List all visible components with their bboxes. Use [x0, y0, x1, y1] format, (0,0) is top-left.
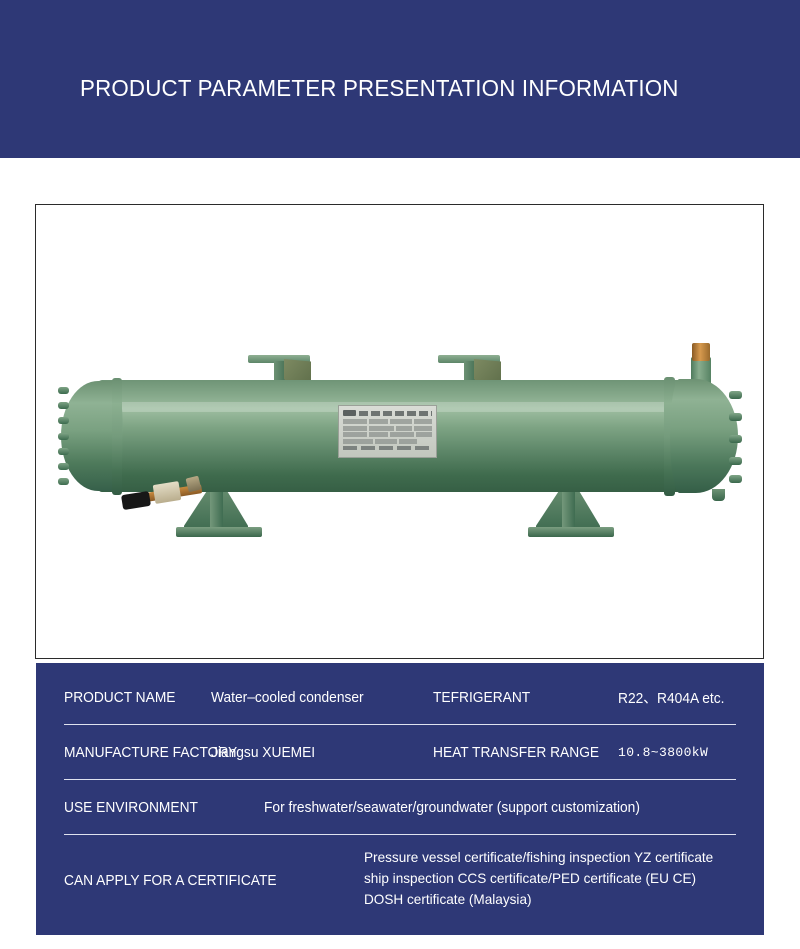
spec-value-product-name: Water–cooled condenser: [211, 690, 422, 706]
nameplate-row: [343, 439, 432, 444]
table-row: MANUFACTURE FACTORY Jiangsu XUEMEI HEAT …: [36, 725, 764, 780]
bolt: [58, 387, 69, 394]
nameplate-row: [343, 419, 432, 424]
bolt: [58, 402, 69, 409]
nameplate-cell: [343, 419, 367, 424]
nameplate-header: [343, 409, 432, 417]
page-header: PRODUCT PARAMETER PRESENTATION INFORMATI…: [0, 0, 800, 158]
spec-value-use-environment: For freshwater/seawater/groundwater (sup…: [264, 800, 640, 816]
certificate-line-1: Pressure vessel certificate/fishing insp…: [364, 847, 713, 868]
nameplate-cell: [343, 439, 373, 444]
spec-label-refrigerant: TEFRIGERANT: [433, 690, 609, 706]
spec-label-use-environment: USE ENVIRONMENT: [64, 800, 254, 816]
page-title: PRODUCT PARAMETER PRESENTATION INFORMATI…: [80, 75, 679, 102]
foot-base-plate: [528, 527, 614, 537]
drain-nub: [712, 489, 725, 501]
bolt: [729, 391, 742, 399]
nameplate-footer: [343, 446, 432, 450]
table-row: CAN APPLY FOR A CERTIFICATE Pressure ves…: [36, 835, 764, 925]
nameplate-cell: [416, 432, 432, 437]
nameplate-title-bar: [359, 411, 432, 416]
bolt-row-right: [729, 391, 743, 483]
copper-pipe-stub: [692, 343, 710, 361]
nameplate-cell: [369, 426, 395, 431]
product-photo-frame: [35, 204, 764, 659]
nameplate-cell: [390, 432, 414, 437]
nameplate-cell: [375, 439, 397, 444]
spec-label-manufacture-factory: MANUFACTURE FACTORY: [64, 745, 204, 761]
bolt: [729, 457, 742, 465]
nameplate-row: [343, 426, 432, 431]
spec-label-certificate: CAN APPLY FOR A CERTIFICATE: [64, 847, 349, 889]
bolt: [58, 478, 69, 485]
spec-value-certificate: Pressure vessel certificate/fishing insp…: [364, 847, 713, 910]
spec-value-manufacture-factory: Jiangsu XUEMEI: [211, 745, 422, 761]
nameplate-cell: [396, 426, 412, 431]
nameplate-row: [343, 432, 432, 437]
bolt: [58, 448, 69, 455]
specification-table: PRODUCT NAME Water–cooled condenser TEFR…: [36, 663, 764, 935]
spec-label-product-name: PRODUCT NAME: [64, 690, 204, 706]
table-row: USE ENVIRONMENT For freshwater/seawater/…: [36, 780, 764, 835]
bolt: [729, 435, 742, 443]
flange-left: [112, 378, 122, 495]
nameplate-cell: [369, 419, 389, 424]
nameplate-cell: [414, 419, 432, 424]
nameplate-cell: [343, 432, 367, 437]
end-cap-right: [670, 379, 738, 493]
nameplate-cell: [399, 439, 417, 444]
nameplate-cell: [369, 432, 389, 437]
table-row: PRODUCT NAME Water–cooled condenser TEFR…: [36, 670, 764, 725]
spec-value-refrigerant: R22、R404A etc.: [618, 687, 751, 708]
water-cooled-condenser-image: [36, 205, 763, 658]
certificate-line-2: ship inspection CCS certificate/PED cert…: [364, 868, 713, 889]
nameplate-logo: [343, 410, 356, 416]
brass-valve-body: [153, 481, 182, 504]
bolt: [729, 413, 742, 421]
spec-value-heat-transfer-range: 10.8~3800kW: [618, 745, 758, 760]
valve-end-cap: [121, 491, 151, 510]
bolt: [58, 433, 69, 440]
nameplate-cell: [390, 419, 412, 424]
foot-base-plate: [176, 527, 262, 537]
nameplate-cell: [343, 426, 367, 431]
nameplate-cell: [414, 426, 432, 431]
certificate-line-3: DOSH certificate (Malaysia): [364, 889, 713, 910]
equipment-nameplate: [338, 405, 437, 458]
bolt: [58, 463, 69, 470]
spec-label-heat-transfer-range: HEAT TRANSFER RANGE: [433, 745, 609, 761]
bolt: [58, 417, 69, 424]
bolt-row-left: [58, 387, 70, 485]
bolt: [729, 475, 742, 483]
